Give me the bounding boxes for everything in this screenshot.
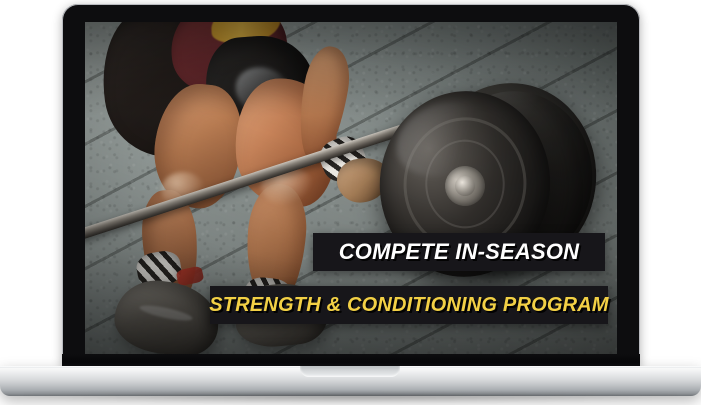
primary-title-text: COMPETE IN-SEASON bbox=[339, 239, 580, 265]
mockup-stage: COMPETE IN-SEASON STRENGTH & CONDITIONIN… bbox=[0, 0, 701, 405]
secondary-title-banner: STRENGTH & CONDITIONING PROGRAM bbox=[210, 286, 608, 324]
secondary-title-text: STRENGTH & CONDITIONING PROGRAM bbox=[209, 294, 609, 317]
laptop-screen[interactable]: COMPETE IN-SEASON STRENGTH & CONDITIONIN… bbox=[85, 22, 617, 358]
primary-title-banner: COMPETE IN-SEASON bbox=[313, 233, 605, 271]
laptop-base-shadow bbox=[24, 394, 677, 403]
laptop-lid: COMPETE IN-SEASON STRENGTH & CONDITIONIN… bbox=[62, 4, 640, 368]
laptop-base bbox=[0, 366, 701, 396]
laptop-base-notch bbox=[300, 366, 400, 377]
